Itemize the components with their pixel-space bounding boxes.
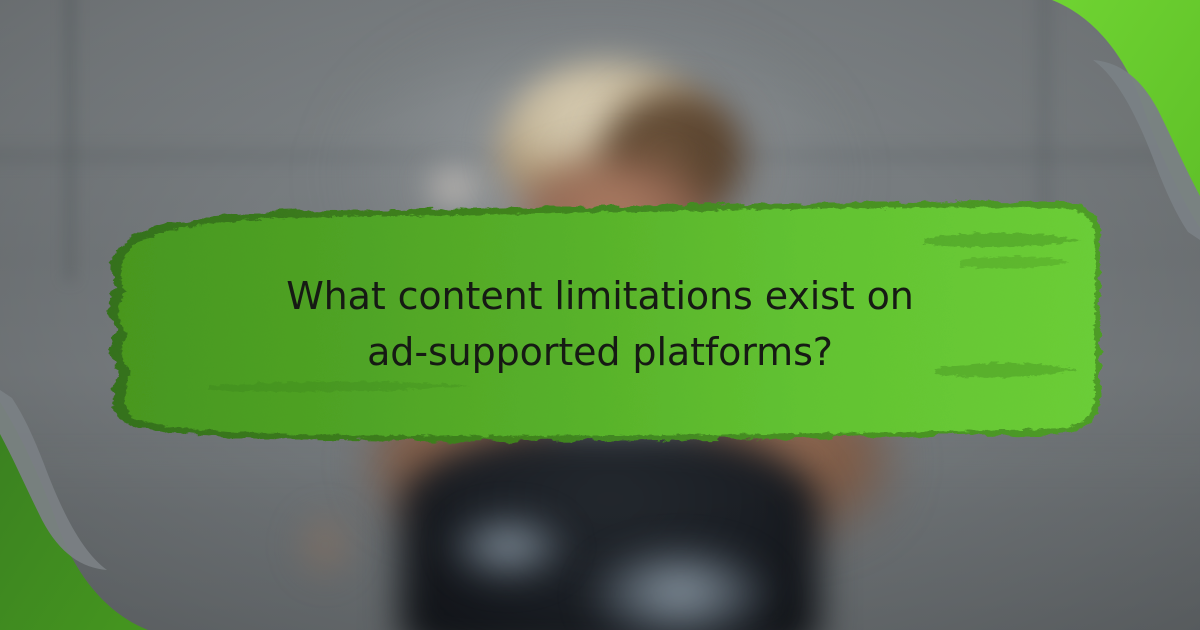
og-share-card: What content limitations exist on ad-sup… bbox=[0, 0, 1200, 630]
page-title: What content limitations exist on ad-sup… bbox=[150, 268, 1050, 380]
